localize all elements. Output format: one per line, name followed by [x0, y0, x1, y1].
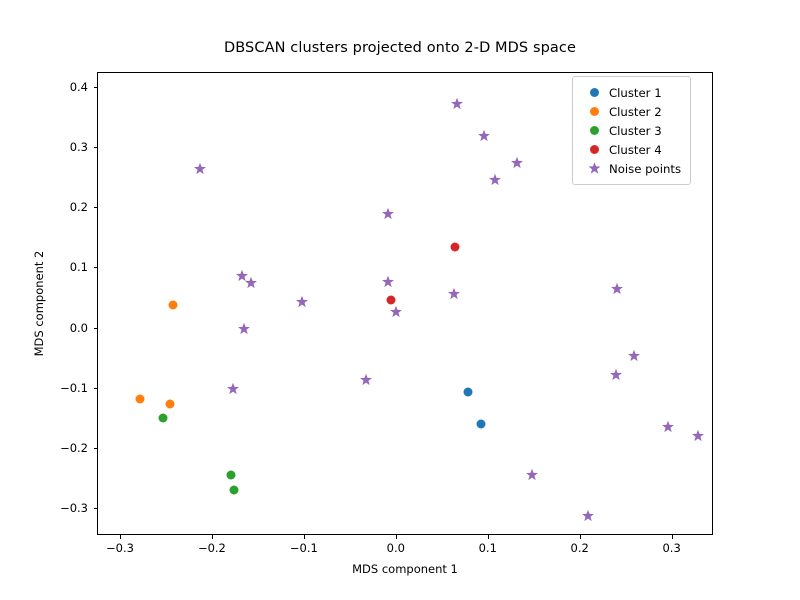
legend-item-cluster-2: Cluster 2: [581, 102, 681, 121]
x-tick-label: 0.1: [479, 541, 497, 555]
data-point: [450, 97, 463, 110]
y-tick-label: 0.2: [70, 200, 88, 214]
data-point: [582, 509, 595, 522]
circle-marker-icon: [581, 107, 607, 116]
star-marker-icon: [581, 162, 607, 175]
data-point: [169, 300, 178, 309]
figure-canvas: DBSCAN clusters projected onto 2-D MDS s…: [0, 0, 800, 600]
x-tick-mark: [120, 535, 121, 539]
y-tick-mark: [94, 328, 98, 329]
y-tick-mark: [94, 388, 98, 389]
data-point: [609, 369, 622, 382]
legend-label: Cluster 3: [607, 124, 662, 138]
x-tick-label: −0.2: [198, 541, 226, 555]
x-tick-label: 0.3: [662, 541, 680, 555]
legend-item-cluster-3: Cluster 3: [581, 121, 681, 140]
data-point: [194, 163, 207, 176]
data-point: [478, 129, 491, 142]
x-axis-label: MDS component 1: [97, 562, 713, 576]
legend-item-noise: Noise points: [581, 159, 681, 178]
x-tick-label: 0.0: [387, 541, 405, 555]
data-point: [611, 283, 624, 296]
data-point: [477, 420, 486, 429]
y-tick-label: −0.1: [60, 381, 88, 395]
y-tick-label: 0.3: [70, 140, 88, 154]
y-tick-label: 0.0: [70, 321, 88, 335]
legend-item-cluster-1: Cluster 1: [581, 83, 681, 102]
data-point: [387, 295, 396, 304]
data-point: [381, 208, 394, 221]
data-point: [227, 382, 240, 395]
y-tick-label: 0.4: [70, 80, 88, 94]
x-tick-mark: [212, 535, 213, 539]
data-point: [360, 374, 373, 387]
x-tick-mark: [304, 535, 305, 539]
x-tick-mark: [672, 535, 673, 539]
y-tick-label: 0.1: [70, 260, 88, 274]
y-tick-mark: [94, 508, 98, 509]
x-tick-mark: [396, 535, 397, 539]
y-tick-mark: [94, 207, 98, 208]
legend-label: Cluster 1: [607, 86, 662, 100]
legend-label: Cluster 4: [607, 143, 662, 157]
y-tick-mark: [94, 448, 98, 449]
legend-label: Cluster 2: [607, 105, 662, 119]
data-point: [692, 429, 705, 442]
data-point: [489, 174, 502, 187]
data-point: [296, 296, 309, 309]
x-tick-mark: [488, 535, 489, 539]
data-point: [511, 157, 524, 170]
chart-legend: Cluster 1Cluster 2Cluster 3Cluster 4Nois…: [572, 76, 691, 185]
circle-marker-icon: [581, 145, 607, 154]
x-tick-label: −0.3: [106, 541, 134, 555]
data-point: [450, 243, 459, 252]
y-tick-mark: [94, 267, 98, 268]
data-point: [525, 468, 538, 481]
data-point: [389, 306, 402, 319]
y-tick-mark: [94, 147, 98, 148]
data-point: [159, 413, 168, 422]
legend-item-cluster-4: Cluster 4: [581, 140, 681, 159]
data-point: [447, 287, 460, 300]
data-point: [165, 399, 174, 408]
y-tick-label: −0.3: [60, 501, 88, 515]
y-tick-mark: [94, 87, 98, 88]
data-point: [136, 394, 145, 403]
x-tick-label: −0.1: [290, 541, 318, 555]
x-tick-label: 0.2: [571, 541, 589, 555]
data-point: [381, 275, 394, 288]
legend-label: Noise points: [607, 162, 681, 176]
y-tick-label: −0.2: [60, 441, 88, 455]
data-point: [244, 277, 257, 290]
chart-title: DBSCAN clusters projected onto 2-D MDS s…: [0, 40, 800, 56]
circle-marker-icon: [581, 126, 607, 135]
data-point: [628, 350, 641, 363]
data-point: [463, 387, 472, 396]
data-point: [230, 485, 239, 494]
circle-marker-icon: [581, 88, 607, 97]
data-point: [227, 470, 236, 479]
y-axis-label: MDS component 2: [32, 72, 46, 535]
data-point: [238, 322, 251, 335]
x-tick-mark: [580, 535, 581, 539]
data-point: [662, 421, 675, 434]
